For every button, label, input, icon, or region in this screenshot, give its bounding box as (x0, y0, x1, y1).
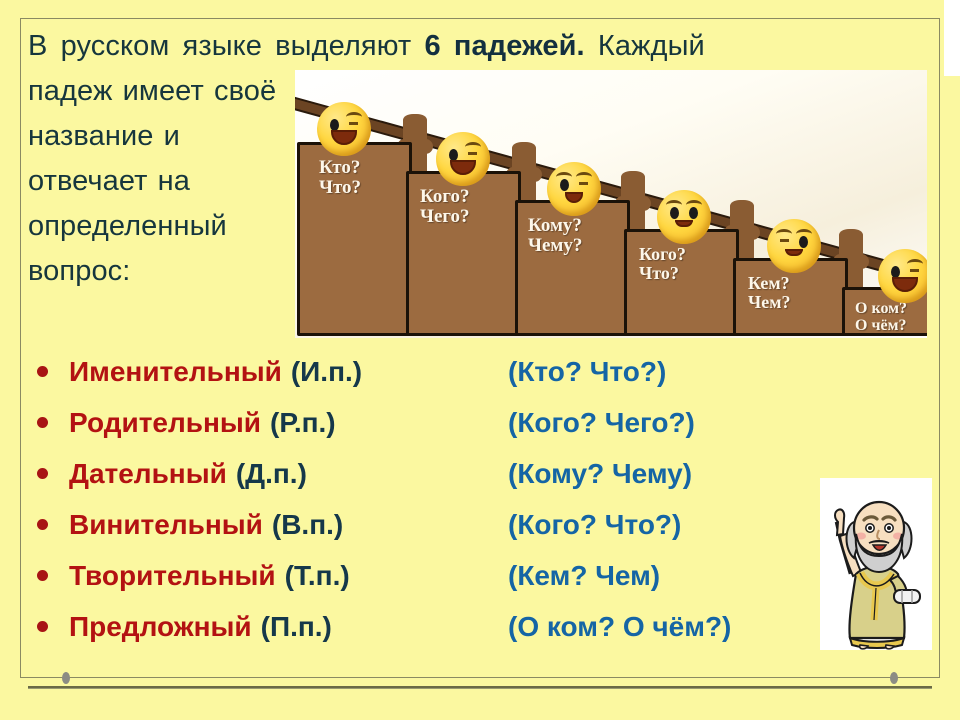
bullet-icon (37, 621, 48, 632)
list-item[interactable]: Именительный (И.п.) (Кто? Что?) (28, 346, 818, 397)
bottom-left-dot (62, 672, 70, 684)
step-label-1-line2: Что? (319, 178, 361, 198)
list-item[interactable]: Предложный (П.п.) (О ком? О чём?) (28, 601, 818, 652)
list-item[interactable]: Дательный (Д.п.) (Кому? Чему) (28, 448, 818, 499)
case-name: Творительный (69, 560, 276, 592)
step-label-5-line1: Кем? (748, 274, 790, 293)
step-label-4: Кого? Что? (639, 245, 686, 283)
case-question: (Кого? Чего?) (508, 407, 695, 439)
case-abbreviation: (Д.п.) (236, 458, 307, 490)
case-question: (Кем? Чем) (508, 560, 660, 592)
staircase-illustration: Кто? Что? Кого? Чего? Кому? Чему? Кого? … (295, 70, 927, 338)
smiley-face-5 (767, 219, 821, 273)
case-question: (Кто? Что?) (508, 356, 666, 388)
case-abbreviation: (П.п.) (261, 611, 332, 643)
case-abbreviation: (Т.п.) (285, 560, 350, 592)
case-name: Предложный (69, 611, 252, 643)
step-label-2: Кого? Чего? (420, 187, 470, 227)
step-label-5-line2: Чем? (748, 293, 790, 312)
step-label-6-line1: О ком? (855, 301, 907, 318)
smiley-face-3 (547, 162, 601, 216)
smiley-face-1 (317, 102, 371, 156)
step-label-2-line1: Кого? (420, 187, 470, 207)
bottom-rule (28, 686, 932, 689)
philosopher-illustration (820, 478, 932, 650)
step-label-4-line1: Кого? (639, 245, 686, 264)
step-label-3-line1: Кому? (528, 216, 582, 236)
case-abbreviation: (В.п.) (272, 509, 343, 541)
case-question: (Кому? Чему) (508, 458, 692, 490)
heading-emphasis: 6 падежей. (424, 30, 584, 62)
case-name: Родительный (69, 407, 261, 439)
bottom-right-dot (890, 672, 898, 684)
step-label-6: О ком? О чём? (855, 301, 907, 335)
case-abbreviation: (Р.п.) (270, 407, 336, 439)
list-item[interactable]: Родительный (Р.п.) (Кого? Чего?) (28, 397, 818, 448)
cases-list: Именительный (И.п.) (Кто? Что?) Родитель… (28, 346, 818, 652)
step-label-5: Кем? Чем? (748, 274, 790, 312)
list-item[interactable]: Творительный (Т.п.) (Кем? Чем) (28, 550, 818, 601)
heading-text-b: Каждый (585, 30, 705, 62)
smiley-face-6 (878, 249, 927, 303)
heading-line-1: В русском языке выделяют 6 падежей. Кажд… (28, 24, 934, 69)
heading-text-a: В русском языке выделяют (28, 30, 424, 62)
smiley-face-4 (657, 190, 711, 244)
slide-canvas: В русском языке выделяют 6 падежей. Кажд… (0, 0, 960, 720)
case-name: Винительный (69, 509, 263, 541)
bullet-icon (37, 468, 48, 479)
step-label-3: Кому? Чему? (528, 216, 582, 256)
case-question: (О ком? О чём?) (508, 611, 731, 643)
bullet-icon (37, 519, 48, 530)
step-label-1-line1: Кто? (319, 158, 361, 178)
step-label-1: Кто? Что? (319, 158, 361, 198)
case-name: Дательный (69, 458, 227, 490)
heading-body: падеж имеет своё название и отвечает на … (28, 69, 278, 294)
step-label-6-line2: О чём? (855, 318, 907, 335)
step-label-4-line2: Что? (639, 264, 686, 283)
case-name: Именительный (69, 356, 282, 388)
case-abbreviation: (И.п.) (291, 356, 362, 388)
step-label-2-line2: Чего? (420, 207, 470, 227)
step-label-3-line2: Чему? (528, 236, 582, 256)
smiley-face-2 (436, 132, 490, 186)
corner-white-notch (944, 0, 960, 76)
bullet-icon (37, 570, 48, 581)
list-item[interactable]: Винительный (В.п.) (Кого? Что?) (28, 499, 818, 550)
bullet-icon (37, 366, 48, 377)
case-question: (Кого? Что?) (508, 509, 681, 541)
bullet-icon (37, 417, 48, 428)
